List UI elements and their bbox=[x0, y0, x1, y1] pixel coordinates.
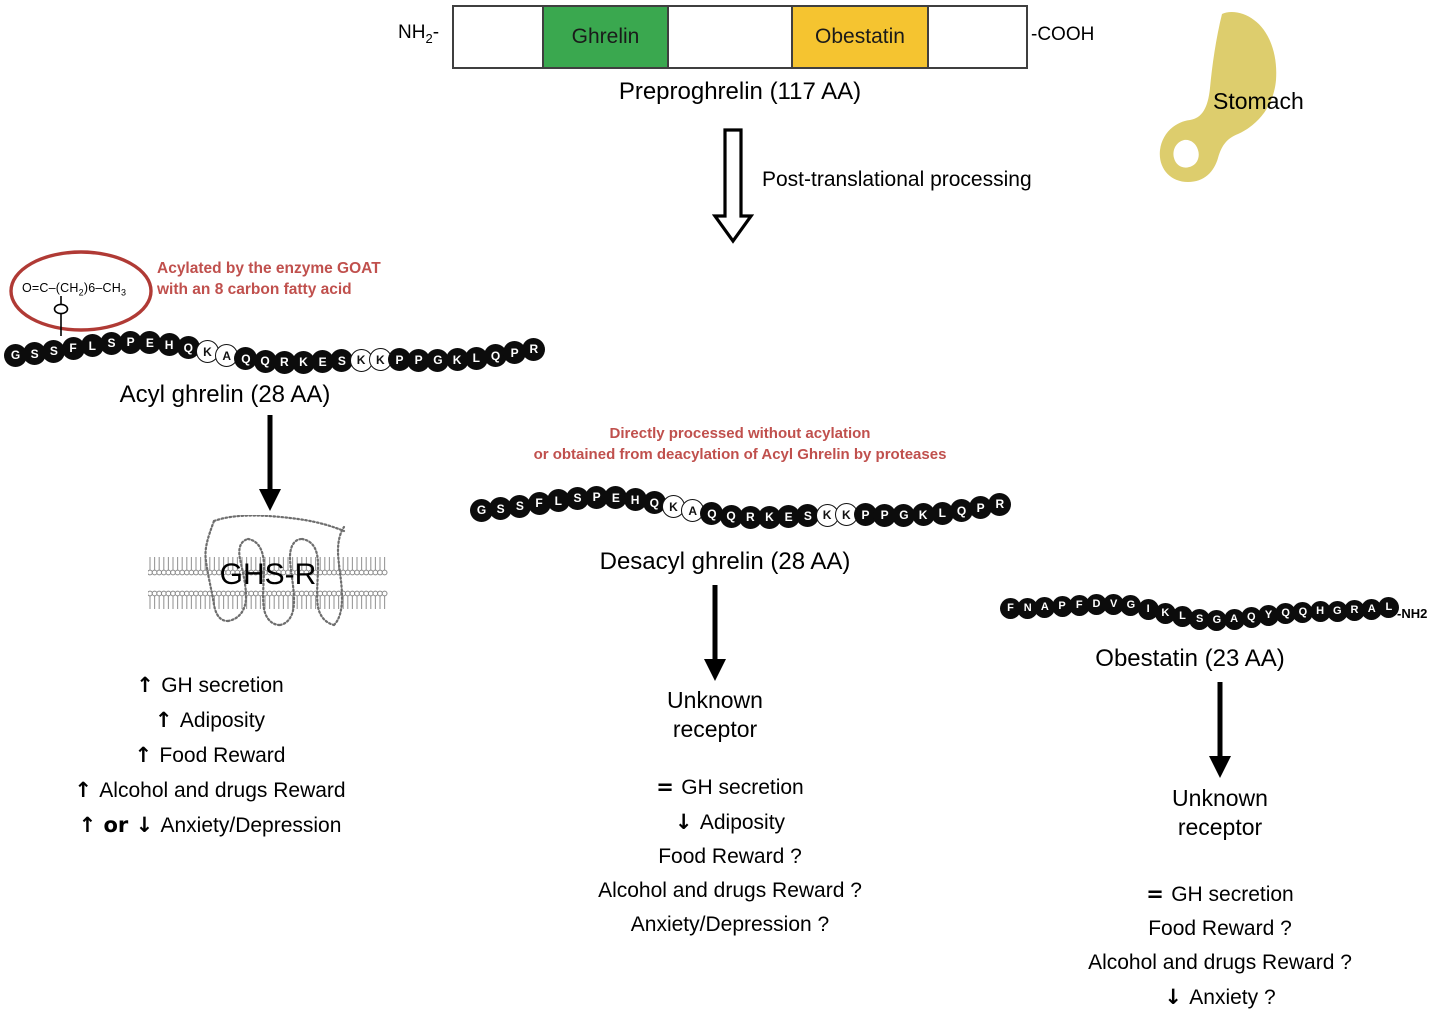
desacyl-ghrelin-caption: Desacyl ghrelin (28 AA) bbox=[545, 548, 905, 576]
effect-label: Food Reward bbox=[159, 744, 285, 767]
desacyl-note-line-1: Directly processed without acylation bbox=[470, 423, 1010, 444]
obestatin-receptor-line-2: receptor bbox=[1095, 813, 1345, 842]
effect-direction-icon: ↓ bbox=[1164, 985, 1189, 1009]
effect-label: GH secretion bbox=[681, 776, 804, 799]
obestatin-c-terminus: -NH2 bbox=[1397, 606, 1427, 621]
preproghrelin-segment-blank-1 bbox=[454, 7, 544, 67]
desacyl-receptor-line-2: receptor bbox=[590, 715, 840, 744]
effect-row: ↑ or ↓ Anxiety/Depression bbox=[0, 808, 420, 843]
post-translational-arrow-icon bbox=[712, 128, 754, 244]
preproghrelin-segment-ghrelin: Ghrelin bbox=[544, 7, 669, 67]
acylation-note: Acylated by the enzyme GOAT with an 8 ca… bbox=[157, 259, 381, 301]
effect-label: Food Reward ? bbox=[1148, 917, 1292, 940]
preproghrelin-bar: Ghrelin Obestatin bbox=[452, 5, 1028, 69]
desacyl-ghrelin-peptide-chain: GSSFLSPEHQKAQQRKESKKPPGKLQPR bbox=[470, 480, 1015, 536]
effect-row: = GH secretion bbox=[1020, 877, 1420, 912]
effect-direction-icon: ↑ or ↓ bbox=[79, 813, 161, 837]
effect-label: Alcohol and drugs Reward bbox=[99, 779, 345, 802]
preproghrelin-segment-blank-3 bbox=[929, 7, 1022, 67]
obestatin-peptide-chain: FNAPFDVGIKLSGAQYQQHGRAL bbox=[1000, 585, 1400, 633]
obestatin-to-receptor-arrow-icon bbox=[1200, 682, 1240, 780]
effect-label: Adiposity bbox=[700, 811, 785, 834]
effect-row: ↓ Adiposity bbox=[540, 805, 920, 840]
amino-acid-bead: R bbox=[988, 493, 1011, 516]
obestatin-receptor-line-1: Unknown bbox=[1095, 784, 1345, 813]
effect-label: Adiposity bbox=[180, 709, 265, 732]
preproghrelin-segment-obestatin: Obestatin bbox=[793, 7, 929, 67]
effect-row: ↑ Alcohol and drugs Reward bbox=[0, 773, 420, 808]
desacyl-receptor-line-1: Unknown bbox=[590, 686, 840, 715]
obestatin-segment-label: Obestatin bbox=[815, 25, 905, 49]
n-terminus-subscript: 2 bbox=[425, 31, 432, 46]
desacyl-ghrelin-effects-list: = GH secretion↓ AdiposityFood Reward ?Al… bbox=[540, 770, 920, 942]
effect-direction-icon: = bbox=[656, 775, 681, 799]
effect-row: ↑ Food Reward bbox=[0, 738, 420, 773]
obestatin-unknown-receptor-label: Unknown receptor bbox=[1095, 784, 1345, 842]
obestatin-effects-list: = GH secretionFood Reward ?Alcohol and d… bbox=[1020, 877, 1420, 1015]
effect-row: Anxiety/Depression ? bbox=[540, 908, 920, 942]
effect-direction-icon: = bbox=[1146, 882, 1171, 906]
n-terminus-label: NH2- bbox=[398, 22, 439, 46]
acyl-ghrelin-peptide-chain: GSSFLSPEHQKAQQRKESKKPPGKLQPR bbox=[4, 325, 549, 381]
acylation-note-line-2: with an 8 carbon fatty acid bbox=[157, 280, 381, 301]
n-terminus-dash: - bbox=[433, 22, 439, 43]
desacyl-to-receptor-arrow-icon bbox=[695, 585, 735, 683]
effect-label: GH secretion bbox=[161, 674, 284, 697]
effect-row: Alcohol and drugs Reward ? bbox=[1020, 946, 1420, 980]
amino-acid-bead: R bbox=[522, 338, 545, 361]
acyl-ghrelin-effects-list: ↑ GH secretion↑ Adiposity↑ Food Reward↑ … bbox=[0, 668, 420, 843]
ghrelin-segment-label: Ghrelin bbox=[572, 25, 640, 49]
effect-label: Anxiety/Depression ? bbox=[631, 913, 829, 936]
formula-part-2: )6–CH bbox=[84, 281, 121, 295]
effect-label: GH secretion bbox=[1171, 883, 1294, 906]
acyl-to-ghsr-arrow-icon bbox=[250, 415, 290, 513]
n-terminus-main: NH bbox=[398, 22, 425, 43]
formula-part-1: O=C–(CH bbox=[22, 281, 79, 295]
preproghrelin-segment-blank-2 bbox=[669, 7, 793, 67]
effect-row: ↓ Anxiety ? bbox=[1020, 980, 1420, 1015]
effect-direction-icon: ↑ bbox=[135, 743, 160, 767]
desacyl-note-line-2: or obtained from deacylation of Acyl Ghr… bbox=[470, 444, 1010, 465]
effect-direction-icon: ↑ bbox=[155, 708, 180, 732]
effect-label: Food Reward ? bbox=[658, 845, 802, 868]
effect-label: Anxiety ? bbox=[1189, 986, 1275, 1009]
effect-row: Food Reward ? bbox=[540, 840, 920, 874]
preproghrelin-caption: Preproghrelin (117 AA) bbox=[452, 78, 1028, 106]
formula-subscript-2: 3 bbox=[121, 288, 126, 298]
desacyl-unknown-receptor-label: Unknown receptor bbox=[590, 686, 840, 744]
acylation-note-line-1: Acylated by the enzyme GOAT bbox=[157, 259, 381, 280]
effect-row: ↑ Adiposity bbox=[0, 703, 420, 738]
effect-label: Alcohol and drugs Reward ? bbox=[1088, 951, 1352, 974]
post-translational-processing-label: Post-translational processing bbox=[762, 168, 1032, 192]
effect-label: Alcohol and drugs Reward ? bbox=[598, 879, 862, 902]
ghsr-label: GHS-R bbox=[148, 558, 388, 592]
stomach-label: Stomach bbox=[1213, 88, 1304, 115]
ghsr-helix bbox=[214, 516, 344, 532]
octanoyl-formula: O=C–(CH2)6–CH3 bbox=[22, 281, 126, 298]
effect-row: Food Reward ? bbox=[1020, 912, 1420, 946]
c-terminus-label: -COOH bbox=[1031, 24, 1094, 46]
effect-row: = GH secretion bbox=[540, 770, 920, 805]
effect-row: Alcohol and drugs Reward ? bbox=[540, 874, 920, 908]
effect-direction-icon: ↑ bbox=[74, 778, 99, 802]
obestatin-caption: Obestatin (23 AA) bbox=[1010, 645, 1370, 673]
effect-direction-icon: ↓ bbox=[675, 810, 700, 834]
effect-direction-icon: ↑ bbox=[136, 673, 161, 697]
acyl-ghrelin-caption: Acyl ghrelin (28 AA) bbox=[60, 381, 390, 409]
effect-row: ↑ GH secretion bbox=[0, 668, 420, 703]
desacyl-processing-note: Directly processed without acylation or … bbox=[470, 423, 1010, 465]
effect-label: Anxiety/Depression bbox=[161, 814, 342, 837]
